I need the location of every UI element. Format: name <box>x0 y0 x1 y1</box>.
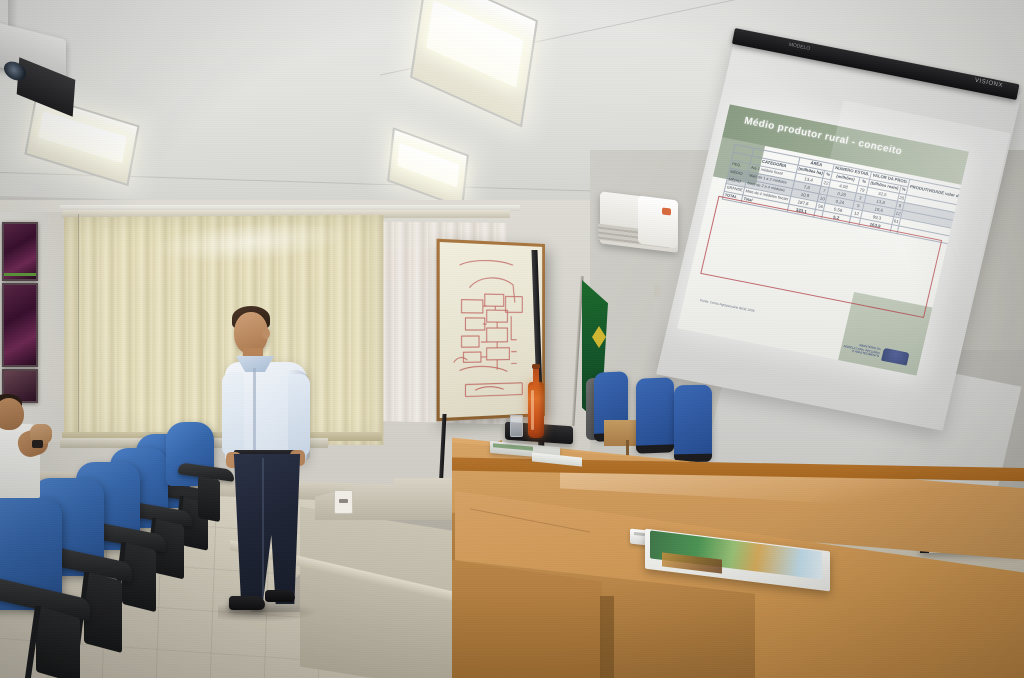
wristwatch-icon <box>32 440 43 448</box>
slide: Médio produtor rural - conceito ÁREA NÚM… <box>677 104 969 375</box>
seat-fold-panel <box>36 606 80 678</box>
bottle-neck <box>533 368 539 386</box>
wall-poster <box>2 222 38 281</box>
slide-footnote: Fonte: Censo Agropecuário IBGE 2006 <box>700 298 755 313</box>
projected-slide-area: Médio produtor rural - conceito ÁREA NÚM… <box>677 104 969 375</box>
back-chair[interactable] <box>674 385 712 460</box>
desk-panel-gap <box>600 596 614 678</box>
wall-poster <box>2 283 38 367</box>
presenter-left-arm <box>222 372 244 456</box>
seat-fold-panel <box>198 476 220 522</box>
presenter-trouser-crease <box>262 458 264 598</box>
back-chair[interactable] <box>636 377 674 450</box>
presenter-shirt-placket <box>253 368 256 456</box>
presenter-ear <box>262 328 270 339</box>
drinking-glass[interactable] <box>510 415 523 437</box>
bottle-highlight <box>531 390 534 430</box>
presenter-right-arm <box>288 374 310 456</box>
screen-brand-label: VISIONX <box>974 78 1003 89</box>
presenter-shoe <box>265 590 295 602</box>
power-outlet-icon[interactable] <box>334 490 353 514</box>
bottle-cap <box>532 364 540 369</box>
ac-indicator-light <box>662 207 671 215</box>
presenter-shoe <box>229 596 265 610</box>
slide-decor-corner <box>838 292 932 376</box>
motion-sensor-icon <box>654 285 661 297</box>
whiteboard-marker-drawing <box>440 242 542 418</box>
blinds-cord[interactable] <box>78 214 79 432</box>
ac-control-panel[interactable] <box>638 196 678 249</box>
screen-brand-small-label: MODELO <box>788 42 810 52</box>
conference-room-photo: Médio produtor rural - conceito ÁREA NÚM… <box>0 0 1024 678</box>
whiteboard-surface[interactable] <box>440 242 542 418</box>
attendee-head <box>0 398 24 430</box>
poster-accent-band <box>4 273 36 276</box>
